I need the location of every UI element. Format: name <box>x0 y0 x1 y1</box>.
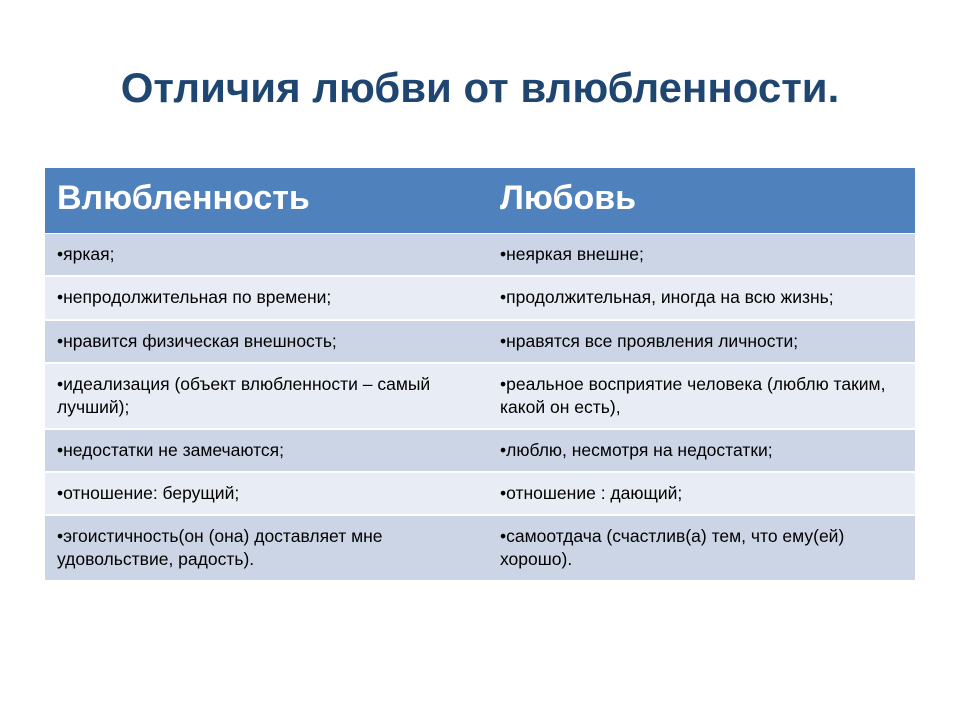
table-body: •яркая; •неяркая внешне; •непродолжитель… <box>45 234 915 580</box>
table-row: •недостатки не замечаются; •люблю, несмо… <box>45 429 915 472</box>
table-header-row: Влюбленность Любовь <box>45 168 915 234</box>
cell-love: •продолжительная, иногда на всю жизнь; <box>490 276 915 319</box>
comparison-table: Влюбленность Любовь •яркая; •неяркая вне… <box>45 168 915 580</box>
bullet-item: •люблю, несмотря на недостатки; <box>500 439 907 462</box>
cell-love: •нравятся все проявления личности; <box>490 320 915 363</box>
bullet-item: •отношение: берущий; <box>57 482 476 505</box>
cell-infatuation: •нравится физическая внешность; <box>45 320 490 363</box>
bullet-item: •яркая; <box>57 243 476 266</box>
bullet-item: •реальное восприятие человека (люблю так… <box>500 373 907 419</box>
bullet-item: •недостатки не замечаются; <box>57 439 476 462</box>
bullet-item: •продолжительная, иногда на всю жизнь; <box>500 286 907 309</box>
column-header-infatuation: Влюбленность <box>45 168 490 234</box>
bullet-item: •непродолжительная по времени; <box>57 286 476 309</box>
table-row: •непродолжительная по времени; •продолжи… <box>45 276 915 319</box>
table-row: •яркая; •неяркая внешне; <box>45 234 915 277</box>
cell-infatuation: •недостатки не замечаются; <box>45 429 490 472</box>
bullet-item: •самоотдача (счастлив(а) тем, что ему(ей… <box>500 525 907 571</box>
page-title: Отличия любви от влюбленности. <box>0 60 960 116</box>
cell-infatuation: •эгоистичность(он (она) доставляет мне у… <box>45 515 490 580</box>
table-header: Влюбленность Любовь <box>45 168 915 234</box>
bullet-item: •отношение : дающий; <box>500 482 907 505</box>
cell-love: •люблю, несмотря на недостатки; <box>490 429 915 472</box>
bullet-item: •эгоистичность(он (она) доставляет мне у… <box>57 525 476 571</box>
column-header-love: Любовь <box>490 168 915 234</box>
bullet-item: •идеализация (объект влюбленности – самы… <box>57 373 476 419</box>
cell-infatuation: •отношение: берущий; <box>45 472 490 515</box>
table-row: •нравится физическая внешность; •нравятс… <box>45 320 915 363</box>
cell-love: •неяркая внешне; <box>490 234 915 277</box>
cell-infatuation: •идеализация (объект влюбленности – самы… <box>45 363 490 429</box>
cell-love: •отношение : дающий; <box>490 472 915 515</box>
cell-love: •реальное восприятие человека (люблю так… <box>490 363 915 429</box>
table-row: •идеализация (объект влюбленности – самы… <box>45 363 915 429</box>
cell-infatuation: •яркая; <box>45 234 490 277</box>
bullet-item: •нравятся все проявления личности; <box>500 330 907 353</box>
bullet-item: •неяркая внешне; <box>500 243 907 266</box>
table-row: •эгоистичность(он (она) доставляет мне у… <box>45 515 915 580</box>
cell-infatuation: •непродолжительная по времени; <box>45 276 490 319</box>
cell-love: •самоотдача (счастлив(а) тем, что ему(ей… <box>490 515 915 580</box>
slide-canvas: Отличия любви от влюбленности. Влюбленно… <box>0 0 960 720</box>
bullet-item: •нравится физическая внешность; <box>57 330 476 353</box>
table-row: •отношение: берущий; •отношение : дающий… <box>45 472 915 515</box>
